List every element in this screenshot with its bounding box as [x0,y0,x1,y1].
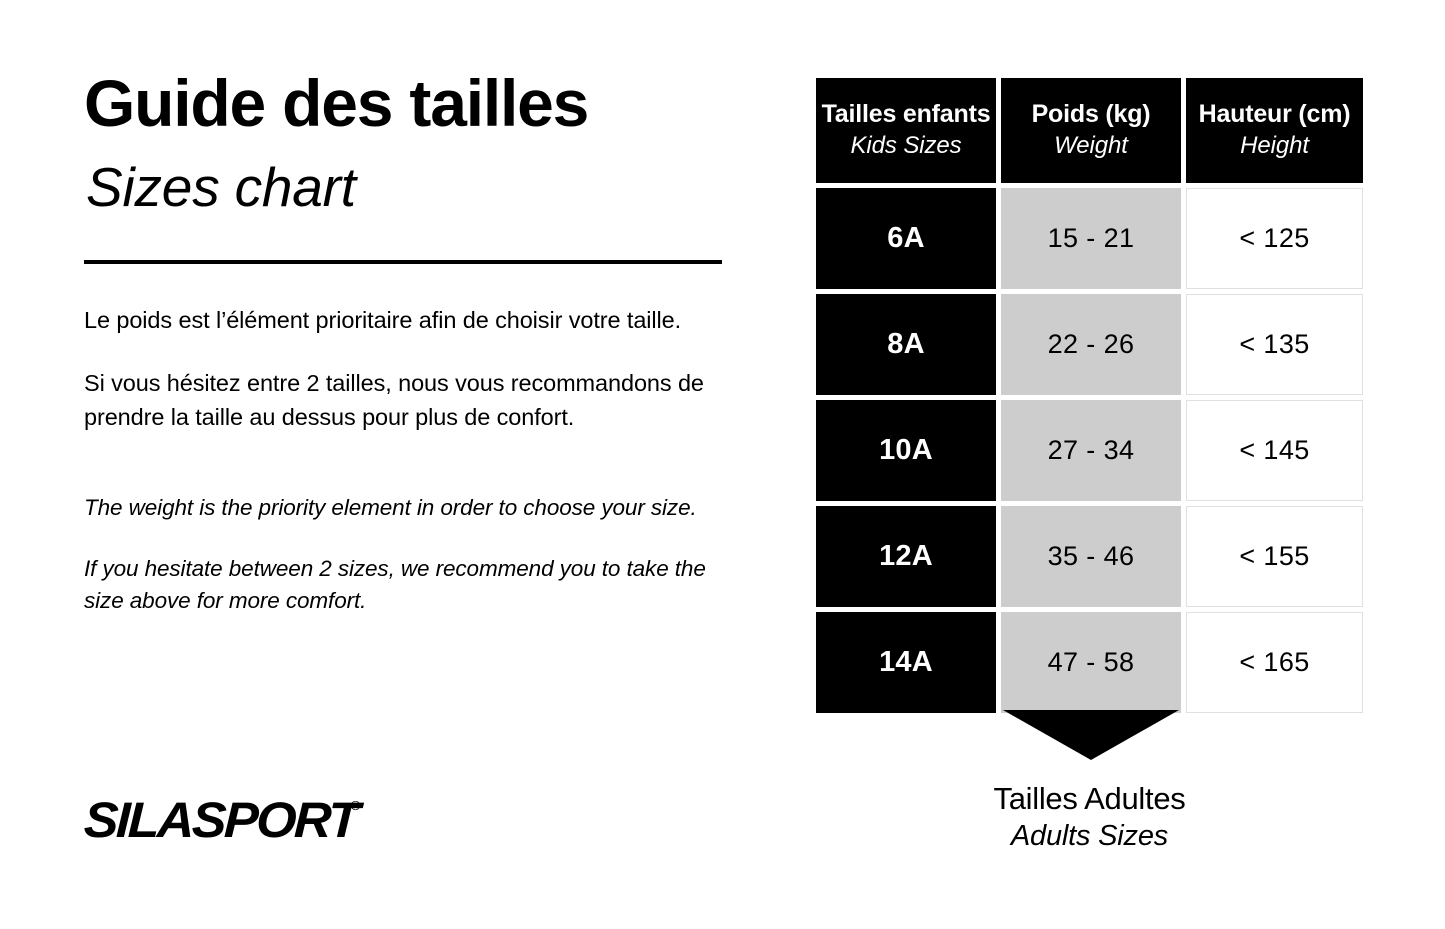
table-row: 8A 22 - 26 < 135 [816,294,1363,395]
table-row: 14A 47 - 58 < 165 [816,612,1363,713]
page-subtitle: Sizes chart [86,160,744,215]
cell-height: < 135 [1186,294,1363,395]
cell-size: 6A [816,188,996,289]
cell-weight: 22 - 26 [1001,294,1181,395]
cell-weight: 35 - 46 [1001,506,1181,607]
cell-weight: 15 - 21 [1001,188,1181,289]
header-label-en: Weight [1054,132,1128,160]
sizes-chart-page: Guide des tailles Sizes chart Le poids e… [0,0,1445,929]
table-header-row: Tailles enfants Kids Sizes Poids (kg) We… [816,78,1363,183]
header-label-en: Kids Sizes [850,132,961,160]
intro-panel: Guide des tailles Sizes chart Le poids e… [84,70,744,617]
page-title: Guide des tailles [84,70,744,136]
table-row: 10A 27 - 34 < 145 [816,400,1363,501]
adults-label-fr: Tailles Adultes [816,782,1363,817]
down-arrow-icon [1003,710,1179,760]
adults-sizes-note: Tailles Adultes Adults Sizes [816,782,1363,853]
cell-size: 14A [816,612,996,713]
intro-fr-paragraph-1: Le poids est l’élément prioritaire afin … [84,304,744,337]
header-label-fr: Poids (kg) [1032,101,1151,129]
table-header-height: Hauteur (cm) Height [1186,78,1363,183]
cell-size: 8A [816,294,996,395]
header-label-en: Height [1240,132,1309,160]
copy-spacer [84,464,744,492]
intro-en-paragraph-1: The weight is the priority element in or… [84,492,744,524]
cell-weight: 47 - 58 [1001,612,1181,713]
intro-fr-paragraph-2: Si vous hésitez entre 2 tailles, nous vo… [84,367,744,434]
header-label-fr: Tailles enfants [822,101,991,129]
header-label-fr: Hauteur (cm) [1199,101,1351,129]
adults-label-en: Adults Sizes [816,820,1363,853]
cell-height: < 155 [1186,506,1363,607]
brand-name: SILASPORT [83,795,358,845]
cell-height: < 165 [1186,612,1363,713]
table-row: 12A 35 - 46 < 155 [816,506,1363,607]
cell-height: < 145 [1186,400,1363,501]
cell-height: < 125 [1186,188,1363,289]
sizes-table: Tailles enfants Kids Sizes Poids (kg) We… [816,78,1363,713]
intro-copy: Le poids est l’élément prioritaire afin … [84,304,744,617]
brand-logo: SILASPORT ® [84,795,360,845]
cell-size: 12A [816,506,996,607]
cell-size: 10A [816,400,996,501]
cell-weight: 27 - 34 [1001,400,1181,501]
table-header-weight: Poids (kg) Weight [1001,78,1181,183]
title-divider [84,260,722,264]
intro-en-paragraph-2: If you hesitate between 2 sizes, we reco… [84,553,744,617]
table-header-kids-sizes: Tailles enfants Kids Sizes [816,78,996,183]
table-row: 6A 15 - 21 < 125 [816,188,1363,289]
